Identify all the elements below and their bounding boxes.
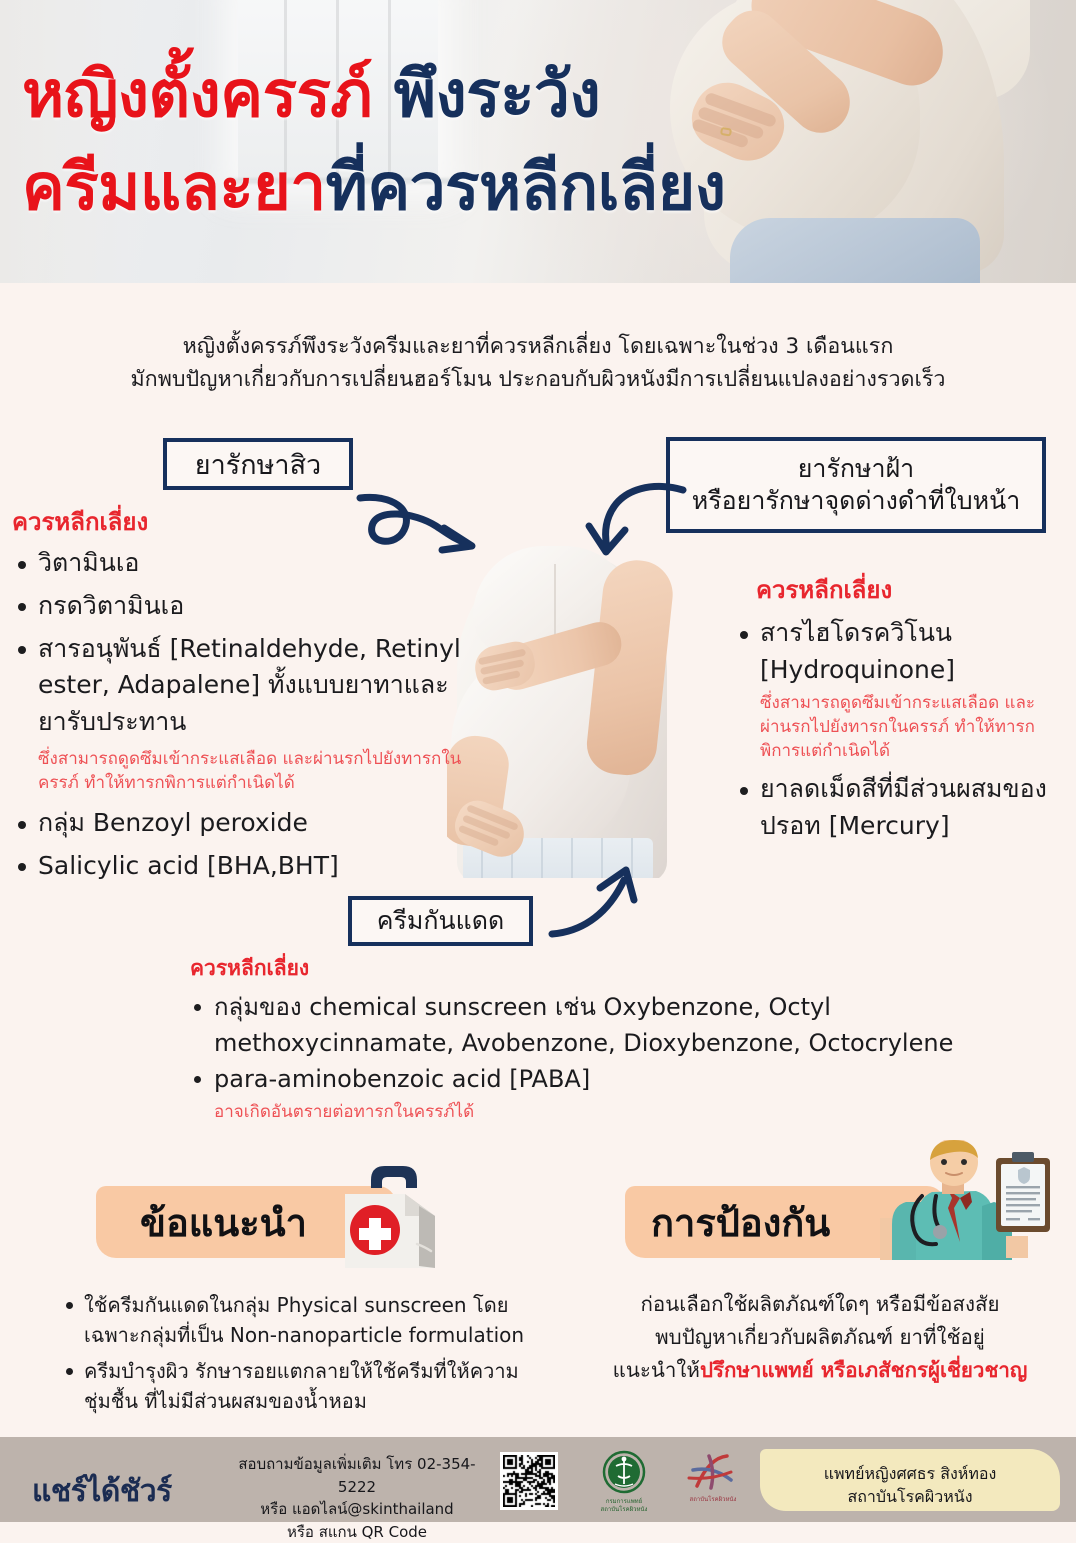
prevention-line-1: ก่อนเลือกใช้ผลิตภัณฑ์ใดๆ หรือมีข้อสงสัย [570, 1288, 1070, 1321]
credit-line-2: สถาบันโรคผิวหนัง [760, 1485, 1060, 1508]
curved-arrow-sunscreen-icon [548, 862, 668, 942]
melasma-warning-text: ซึ่งสามารถดูดซึมเข้ากระแสเลือด และผ่านรก… [760, 692, 1066, 763]
list-item: Salicylic acid [BHA,BHT] [12, 848, 467, 885]
institute-of-dermatology-logo-icon [671, 1452, 755, 1492]
curved-arrow-acne-icon [352, 492, 492, 582]
label-sunscreen-text: ครีมกันแดด [377, 901, 504, 941]
organization-logos: กรมการแพทย์ สถาบันโรคผิวหนัง สถาบันโรคผิ… [585, 1450, 755, 1514]
acne-warning-text: ซึ่งสามารถดูดซึมเข้ากระแสเลือด และผ่านรก… [38, 747, 467, 795]
prevention-line-3-emphasis: ปรึกษาแพทย์ หรือเภสัชกรผู้เชี่ยวชาญ [700, 1358, 1027, 1382]
prevention-text: ก่อนเลือกใช้ผลิตภัณฑ์ใดๆ หรือมีข้อสงสัย … [570, 1288, 1070, 1388]
title-line1-navy: พึงระวัง [372, 58, 600, 132]
first-aid-kit-icon [331, 1158, 456, 1278]
label-box-melasma-medication: ยารักษาฝ้า หรือยารักษาจุดด่างดำที่ใบหน้า [666, 437, 1046, 533]
department-of-medical-services-logo-icon [585, 1450, 663, 1494]
prevention-line-2: พบปัญหาเกี่ยวกับผลิตภัณฑ์ ยาที่ใช้อยู่ [570, 1321, 1070, 1354]
intro-paragraph: หญิงตั้งครรภ์พึงระวังครีมและยาที่ควรหลีก… [0, 330, 1076, 397]
label-melasma-line1: ยารักษาฝ้า [692, 453, 1021, 485]
title-line1-red: หญิงตั้งครรภ์ [22, 58, 372, 132]
list-item: ใช้ครีมกันแดดในกลุ่ม Physical sunscreen … [62, 1290, 532, 1350]
list-item: ครีมบำรุงผิว รักษารอยแตกลายให้ใช้ครีมที่… [62, 1356, 532, 1416]
list-item: ยาลดเม็ดสีที่มีส่วนผสมของปรอท [Mercury] [730, 771, 1066, 844]
list-item: para-aminobenzoic acid [PABA] [190, 1061, 980, 1097]
credit-text: แพทย์หญิงศศธร สิงห์ทอง สถาบันโรคผิวหนัง [760, 1462, 1060, 1508]
list-item: กรดวิตามินเอ [12, 588, 467, 625]
logo1-caption: กรมการแพทย์ สถาบันโรคผิวหนัง [585, 1498, 663, 1513]
title-line2-red: ครีมและยา [22, 151, 326, 225]
label-melasma-line2: หรือยารักษาจุดด่างดำที่ใบหน้า [692, 485, 1021, 517]
list-item: สารอนุพันธ์ [Retinaldehyde, Retinyl este… [12, 631, 467, 741]
curved-arrow-melasma-icon [565, 480, 695, 570]
list-item: สารไฮโดรควิโนน [Hydroquinone] [730, 615, 1066, 688]
label-box-acne-medication: ยารักษาสิว [163, 438, 353, 490]
list-item: กลุ่ม Benzoyl peroxide [12, 805, 467, 842]
label-acne-text: ยารักษาสิว [195, 443, 321, 486]
sunscreen-avoid-column: ควรหลีกเลี่ยง กลุ่มของ chemical sunscree… [190, 952, 980, 1125]
qr-code[interactable] [500, 1452, 558, 1510]
share-label: แชร์ได้ชัวร์ [32, 1468, 172, 1515]
melasma-avoid-column: ควรหลีกเลี่ยง สารไฮโดรควิโนน [Hydroquino… [730, 570, 1066, 848]
melasma-avoid-heading: ควรหลีกเลี่ยง [756, 570, 1066, 609]
prevention-banner-label: การป้องกัน [625, 1192, 830, 1253]
prevention-line-3-plain: แนะนำให้ [613, 1358, 700, 1382]
page-title: หญิงตั้งครรภ์ พึงระวัง ครีมและยาที่ควรหล… [22, 63, 702, 222]
title-line2-navy: ที่ควรหลีกเลี่ยง [326, 151, 726, 225]
label-box-sunscreen: ครีมกันแดด [348, 896, 533, 946]
sunscreen-avoid-heading: ควรหลีกเลี่ยง [190, 952, 980, 985]
center-pregnant-woman-photo [447, 538, 677, 878]
intro-line-1: หญิงตั้งครรภ์พึงระวังครีมและยาที่ควรหลีก… [0, 330, 1076, 363]
hero-banner: หญิงตั้งครรภ์ พึงระวัง ครีมและยาที่ควรหล… [0, 0, 1076, 283]
sunscreen-warning-text: อาจเกิดอันตรายต่อทารกในครรภ์ได้ [214, 1098, 980, 1125]
intro-line-2: มักพบปัญหาเกี่ยวกับการเปลี่ยนฮอร์โมน ประ… [0, 363, 1076, 396]
logo2-caption: สถาบันโรคผิวหนัง [671, 1496, 755, 1504]
advice-banner-label: ข้อแนะนำ [96, 1192, 307, 1253]
advice-list: ใช้ครีมกันแดดในกลุ่ม Physical sunscreen … [62, 1290, 532, 1422]
doctor-illustration-icon [880, 1140, 1060, 1290]
contact-info: สอบถามข้อมูลเพิ่มเติม โทร 02-354-5222 หร… [222, 1453, 492, 1543]
contact-line-3: หรือ สแกน QR Code [222, 1521, 492, 1543]
contact-line-2: หรือ แอดไลน์@skinthailand [222, 1498, 492, 1521]
credit-line-1: แพทย์หญิงศศธร สิงห์ทอง [760, 1462, 1060, 1485]
list-item: กลุ่มของ chemical sunscreen เช่น Oxybenz… [190, 989, 980, 1061]
contact-line-1: สอบถามข้อมูลเพิ่มเติม โทร 02-354-5222 [222, 1453, 492, 1498]
